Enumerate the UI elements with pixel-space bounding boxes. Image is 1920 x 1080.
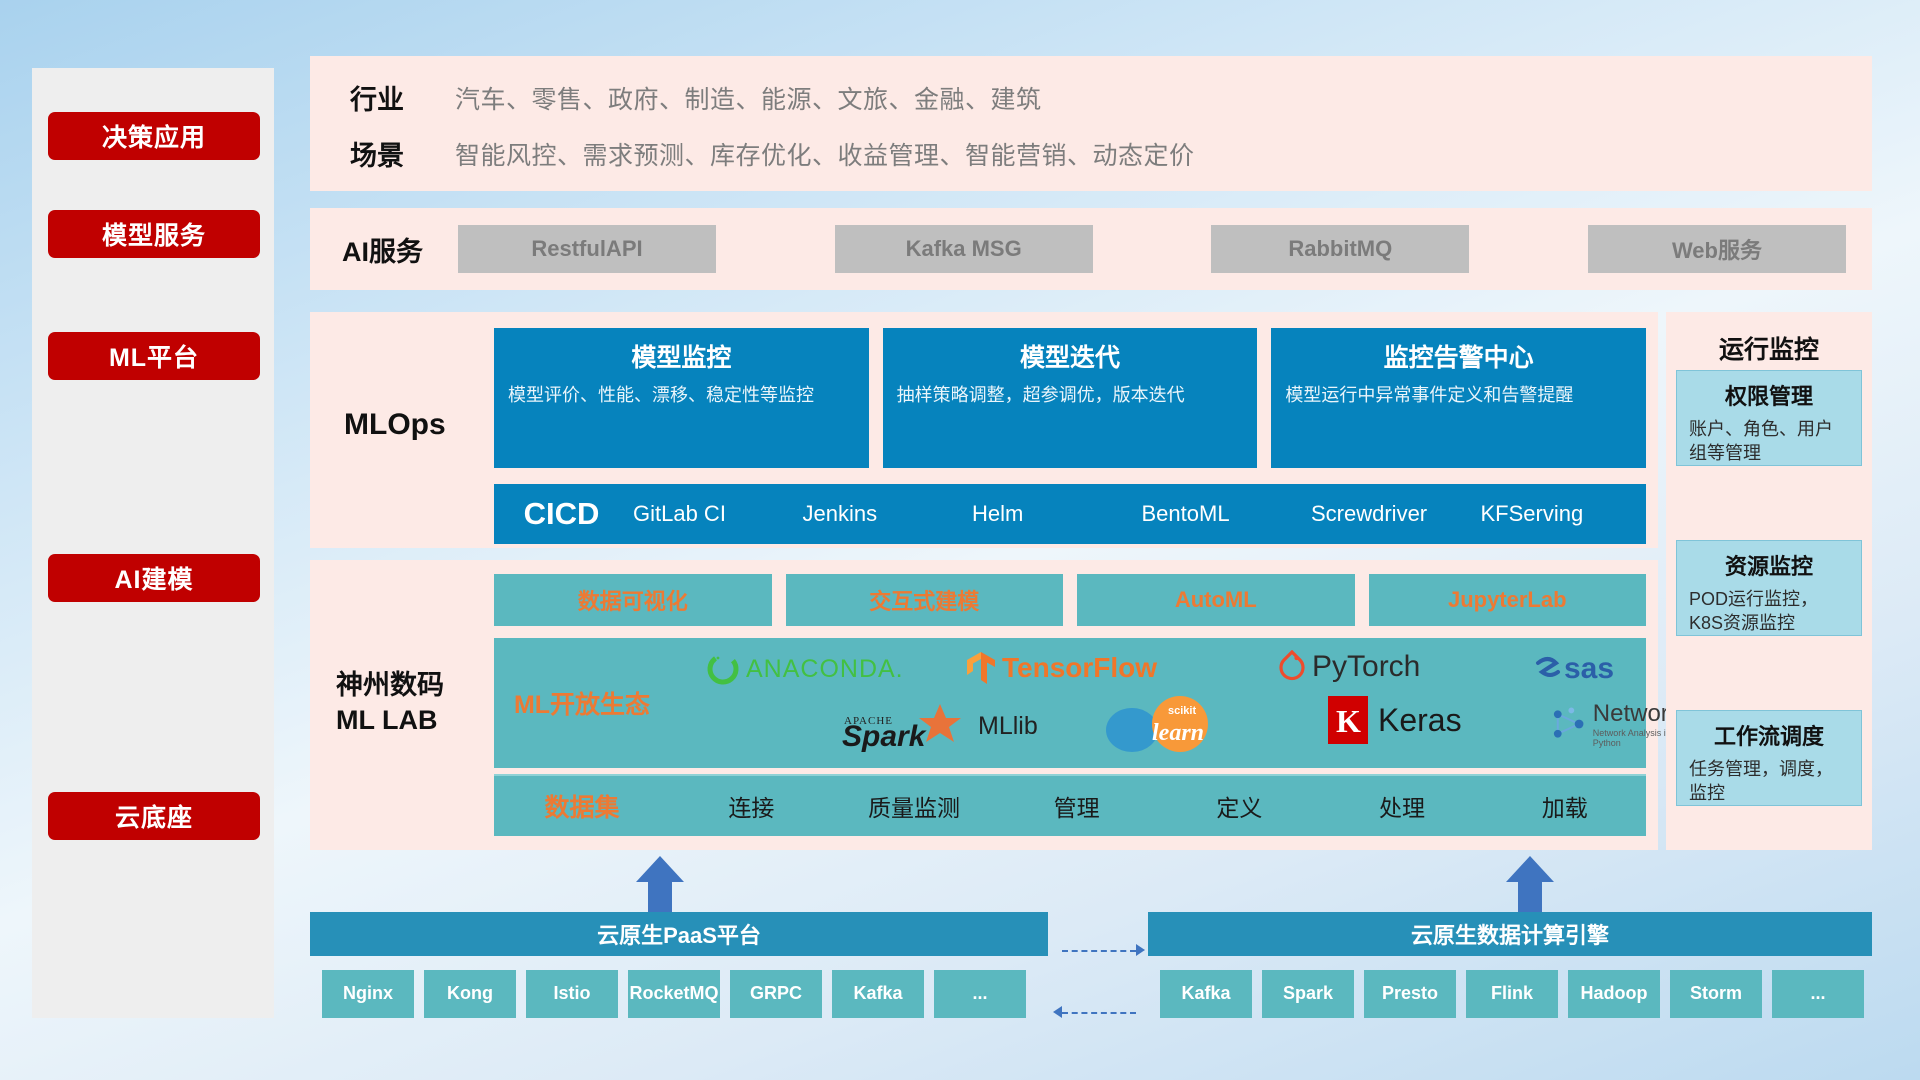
layer-pill-ml-platform[interactable]: ML平台: [48, 332, 260, 380]
mlops-key: MLOps: [344, 408, 484, 442]
monitor-card-permission[interactable]: 权限管理 账户、角色、用户组等管理: [1676, 370, 1862, 466]
ai-service-band: AI服务 RestfulAPI Kafka MSG RabbitMQ Web服务: [310, 208, 1872, 290]
engine-chip-hadoop[interactable]: Hadoop: [1568, 970, 1660, 1018]
engine-chip-flink[interactable]: Flink: [1466, 970, 1558, 1018]
monitor-card-desc: POD运行监控，K8S资源监控: [1689, 587, 1849, 636]
dataset-item-quality-monitor[interactable]: 质量监测: [833, 789, 996, 823]
layer-label: 模型服务: [102, 216, 206, 252]
mlops-card-alert-center[interactable]: 监控告警中心 模型运行中异常事件定义和告警提醒: [1271, 328, 1646, 468]
cloud-chip-kafka[interactable]: Kafka: [832, 970, 924, 1018]
engine-chip-spark[interactable]: Spark: [1262, 970, 1354, 1018]
cicd-bar: CICD GitLab CI Jenkins Helm BentoML Scre…: [494, 484, 1646, 544]
mlops-card-list: 模型监控 模型评价、性能、漂移、稳定性等监控 模型迭代 抽样策略调整，超参调优，…: [494, 328, 1646, 468]
engine-chip-more[interactable]: ...: [1772, 970, 1864, 1018]
pytorch-mark-icon: [1278, 650, 1306, 684]
monitor-card-desc: 任务管理，调度，监控: [1689, 757, 1849, 806]
cloud-chip-nginx[interactable]: Nginx: [322, 970, 414, 1018]
cicd-title: CICD: [494, 496, 629, 532]
cicd-item-screwdriver[interactable]: Screwdriver: [1307, 501, 1477, 526]
modeling-tool-list: 数据可视化 交互式建模 AutoML JupyterLab: [494, 574, 1646, 626]
runtime-monitor-panel: 运行监控 权限管理 账户、角色、用户组等管理 资源监控 POD运行监控，K8S资…: [1666, 312, 1872, 850]
cicd-item-jenkins[interactable]: Jenkins: [799, 501, 969, 526]
layer-pill-ai-modeling[interactable]: AI建模: [48, 554, 260, 602]
runtime-monitor-title: 运行监控: [1666, 312, 1872, 366]
mlops-card-desc: 模型评价、性能、漂移、稳定性等监控: [508, 383, 855, 407]
mlops-card-desc: 抽样策略调整，超参调优，版本迭代: [897, 383, 1244, 407]
cloud-chip-kong[interactable]: Kong: [424, 970, 516, 1018]
tensorflow-logo: TensorFlow: [966, 650, 1157, 686]
cloud-paas-bar[interactable]: 云原生PaaS平台: [310, 912, 1048, 956]
sas-mark-icon: [1532, 654, 1562, 684]
scikit-learn-mark-icon: scikit learn: [1102, 694, 1248, 756]
mlops-card-model-monitoring[interactable]: 模型监控 模型评价、性能、漂移、稳定性等监控: [494, 328, 869, 468]
ai-modeling-band: 神州数码 ML LAB 数据可视化 交互式建模 AutoML JupyterLa…: [310, 560, 1658, 850]
ml-lab-key: 神州数码 ML LAB: [336, 668, 496, 738]
ml-ecosystem-key: ML开放生态: [494, 685, 670, 721]
svg-text:scikit: scikit: [1168, 705, 1196, 717]
dataset-bar: 数据集 连接 质量监测 管理 定义 处理 加载: [494, 774, 1646, 836]
svg-text:K: K: [1336, 703, 1361, 739]
ml-ecosystem-logo-list: ANACONDA. TensorFlow PyTorch: [670, 638, 1646, 768]
monitor-card-title: 资源监控: [1689, 549, 1849, 581]
tensorflow-logo-text: TensorFlow: [1002, 652, 1157, 684]
svg-text:Spark: Spark: [842, 720, 927, 752]
architecture-diagram: 决策应用 模型服务 ML平台 AI建模 云底座 行业 汽车、零售、政府、制造、能…: [0, 0, 1920, 1080]
layer-pill-model-service[interactable]: 模型服务: [48, 210, 260, 258]
ai-service-chip-web[interactable]: Web服务: [1588, 225, 1846, 273]
ai-service-key: AI服务: [310, 230, 458, 269]
scenario-key: 场景: [310, 134, 455, 173]
layer-rail: 决策应用 模型服务 ML平台 AI建模 云底座: [32, 68, 274, 1018]
industry-row: 行业 汽车、零售、政府、制造、能源、文旅、金融、建筑: [310, 78, 1872, 117]
tool-chip-interactive-modeling[interactable]: 交互式建模: [786, 574, 1064, 626]
cloud-engine-chip-list: Kafka Spark Presto Flink Hadoop Storm ..…: [1160, 970, 1864, 1018]
cicd-item-gitlab-ci[interactable]: GitLab CI: [629, 501, 799, 526]
svg-text:learn: learn: [1152, 720, 1204, 746]
spark-mllib-logo: APACHE Spark MLlib: [842, 700, 1038, 752]
ml-ecosystem-box: ML开放生态 ANACONDA. TensorFlow: [494, 638, 1646, 768]
tensorflow-mark-icon: [966, 650, 996, 686]
industry-value: 汽车、零售、政府、制造、能源、文旅、金融、建筑: [455, 80, 1042, 116]
cloud-chip-grpc[interactable]: GRPC: [730, 970, 822, 1018]
cloud-chip-more[interactable]: ...: [934, 970, 1026, 1018]
cicd-item-bentoml[interactable]: BentoML: [1138, 501, 1308, 526]
ai-service-chip-list: RestfulAPI Kafka MSG RabbitMQ Web服务: [458, 225, 1872, 273]
cicd-item-list: GitLab CI Jenkins Helm BentoML Screwdriv…: [629, 501, 1646, 526]
dataset-item-process[interactable]: 处理: [1321, 789, 1484, 823]
decision-app-band: 行业 汽车、零售、政府、制造、能源、文旅、金融、建筑 场景 智能风控、需求预测、…: [310, 56, 1872, 191]
spark-mark-icon: APACHE Spark: [842, 700, 974, 752]
anaconda-logo: ANACONDA.: [706, 652, 904, 686]
dataset-key: 数据集: [494, 788, 670, 824]
scikit-learn-logo: scikit learn: [1102, 694, 1248, 756]
monitor-card-resource[interactable]: 资源监控 POD运行监控，K8S资源监控: [1676, 540, 1862, 636]
tool-chip-automl[interactable]: AutoML: [1077, 574, 1355, 626]
anaconda-logo-text: ANACONDA.: [746, 655, 904, 684]
keras-logo: K Keras: [1326, 694, 1462, 746]
layer-pill-cloud-base[interactable]: 云底座: [48, 792, 260, 840]
mlops-card-model-iteration[interactable]: 模型迭代 抽样策略调整，超参调优，版本迭代: [883, 328, 1258, 468]
pytorch-logo: PyTorch: [1278, 650, 1420, 684]
monitor-card-title: 工作流调度: [1689, 719, 1849, 751]
keras-logo-text: Keras: [1378, 702, 1462, 739]
mlops-band: MLOps 模型监控 模型评价、性能、漂移、稳定性等监控 模型迭代 抽样策略调整…: [310, 312, 1658, 548]
scenario-value: 智能风控、需求预测、库存优化、收益管理、智能营销、动态定价: [455, 136, 1195, 172]
layer-pill-decision-app[interactable]: 决策应用: [48, 112, 260, 160]
monitor-card-workflow[interactable]: 工作流调度 任务管理，调度，监控: [1676, 710, 1862, 806]
industry-key: 行业: [310, 78, 455, 117]
tool-chip-data-visualization[interactable]: 数据可视化: [494, 574, 772, 626]
dataset-item-load[interactable]: 加载: [1483, 789, 1646, 823]
ml-lab-key-line1: 神州数码: [336, 668, 496, 703]
sas-logo: sas: [1532, 652, 1614, 686]
dataset-item-define[interactable]: 定义: [1158, 789, 1321, 823]
keras-mark-icon: K: [1326, 694, 1370, 746]
ml-lab-key-line2: ML LAB: [336, 703, 496, 738]
engine-chip-presto[interactable]: Presto: [1364, 970, 1456, 1018]
ai-service-chip-rabbitmq[interactable]: RabbitMQ: [1211, 225, 1469, 273]
monitor-card-title: 权限管理: [1689, 379, 1849, 411]
cloud-chip-istio[interactable]: Istio: [526, 970, 618, 1018]
dataset-item-connect[interactable]: 连接: [670, 789, 833, 823]
networkx-mark-icon: [1550, 704, 1589, 744]
sas-logo-text: sas: [1564, 652, 1614, 686]
cloud-chip-rocketmq[interactable]: RocketMQ: [628, 970, 720, 1018]
monitor-card-desc: 账户、角色、用户组等管理: [1689, 417, 1849, 466]
engine-chip-kafka[interactable]: Kafka: [1160, 970, 1252, 1018]
cicd-item-kfserving[interactable]: KFServing: [1477, 501, 1647, 526]
mllib-logo-text: MLlib: [978, 712, 1038, 741]
ai-service-chip-restfulapi[interactable]: RestfulAPI: [458, 225, 716, 273]
mlops-card-desc: 模型运行中异常事件定义和告警提醒: [1285, 383, 1632, 407]
layer-label: ML平台: [109, 338, 199, 374]
anaconda-mark-icon: [706, 652, 740, 686]
engine-chip-storm[interactable]: Storm: [1670, 970, 1762, 1018]
layer-label: 云底座: [115, 798, 193, 834]
cloud-paas-chip-list: Nginx Kong Istio RocketMQ GRPC Kafka ...: [322, 970, 1026, 1018]
ai-service-chip-kafka-msg[interactable]: Kafka MSG: [835, 225, 1093, 273]
layer-label: 决策应用: [102, 118, 206, 154]
mlops-card-title: 模型迭代: [897, 338, 1244, 374]
mlops-card-title: 监控告警中心: [1285, 338, 1632, 374]
layer-label: AI建模: [114, 560, 193, 596]
scenario-row: 场景 智能风控、需求预测、库存优化、收益管理、智能营销、动态定价: [310, 134, 1872, 173]
mlops-card-title: 模型监控: [508, 338, 855, 374]
pytorch-logo-text: PyTorch: [1312, 650, 1420, 684]
tool-chip-jupyterlab[interactable]: JupyterLab: [1369, 574, 1647, 626]
dataset-item-list: 连接 质量监测 管理 定义 处理 加载: [670, 789, 1646, 823]
dataset-item-manage[interactable]: 管理: [995, 789, 1158, 823]
cloud-engine-bar[interactable]: 云原生数据计算引擎: [1148, 912, 1872, 956]
cicd-item-helm[interactable]: Helm: [968, 501, 1138, 526]
